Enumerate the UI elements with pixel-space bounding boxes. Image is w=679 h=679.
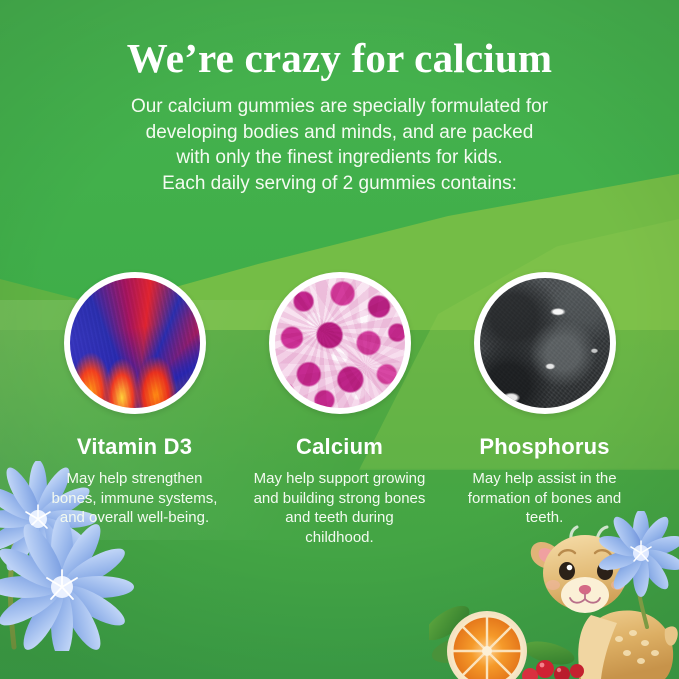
- feature-calcium: Calcium May help support growing and bui…: [237, 272, 442, 547]
- calcium-gummies-banner: We’re crazy for calcium Our calcium gumm…: [0, 0, 679, 679]
- feature-phosphorus: Phosphorus May help assist in the format…: [442, 272, 647, 528]
- feature-image-frame-vitamin-d3: [64, 272, 206, 414]
- page-title: We’re crazy for calcium: [0, 34, 679, 82]
- phosphorus-mineral-rock-icon: [480, 278, 610, 408]
- feature-image-frame-phosphorus: [474, 272, 616, 414]
- header-block: We’re crazy for calcium Our calcium gumm…: [0, 34, 679, 196]
- intro-line-2: developing bodies and minds, and are pac…: [90, 120, 590, 146]
- feature-title-calcium: Calcium: [237, 434, 442, 460]
- intro-paragraph: Our calcium gummies are specially formul…: [90, 94, 590, 196]
- feature-vitamin-d3: Vitamin D3 May help strengthen bones, im…: [32, 272, 237, 528]
- intro-line-3: with only the finest ingredients for kid…: [90, 145, 590, 171]
- ingredient-feature-list: Vitamin D3 May help strengthen bones, im…: [0, 272, 679, 547]
- feature-title-phosphorus: Phosphorus: [442, 434, 647, 460]
- feature-description-calcium: May help support growing and building st…: [254, 469, 426, 547]
- feature-description-vitamin-d3: May help strengthen bones, immune system…: [49, 469, 221, 528]
- feature-image-frame-calcium: [269, 272, 411, 414]
- intro-line-1: Our calcium gummies are specially formul…: [90, 94, 590, 120]
- feature-description-phosphorus: May help assist in the formation of bone…: [459, 469, 631, 528]
- calcium-bone-histology-micrograph-icon: [275, 278, 405, 408]
- intro-line-4: Each daily serving of 2 gummies contains…: [90, 171, 590, 197]
- feature-title-vitamin-d3: Vitamin D3: [32, 434, 237, 460]
- vitamin-d3-crystal-micrograph-icon: [70, 278, 200, 408]
